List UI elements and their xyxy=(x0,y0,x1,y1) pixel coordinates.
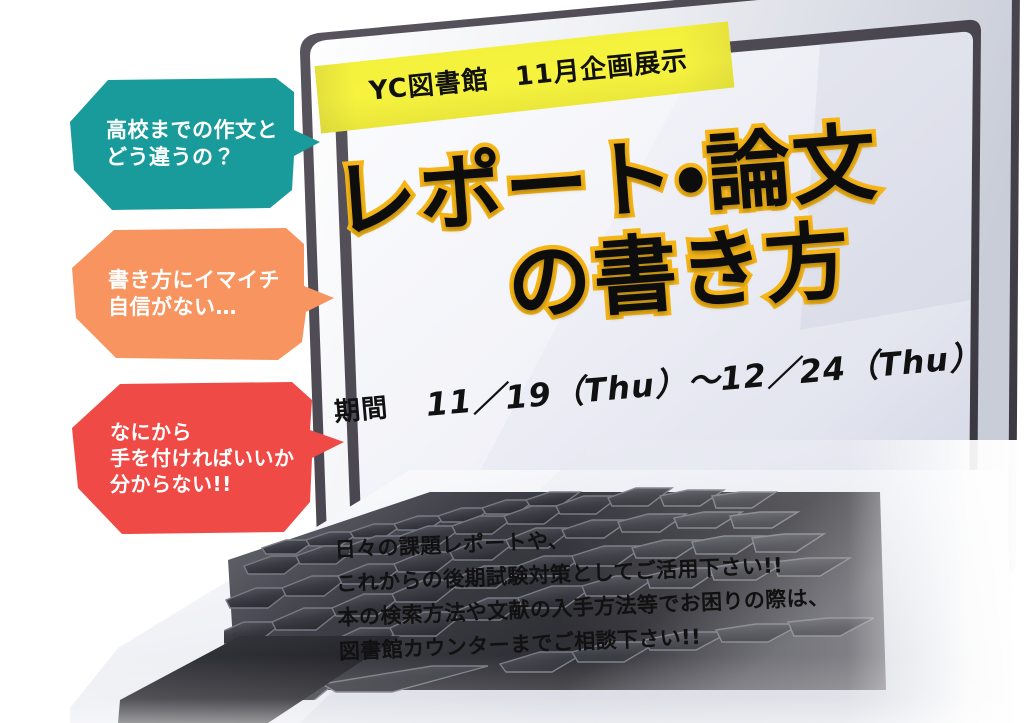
speech-bubble-question-1: 高校までの作文と どう違うの？ xyxy=(70,78,320,210)
bubble-2-text: 書き方にイマイチ 自信がない… xyxy=(108,267,334,322)
speech-bubble-question-2: 書き方にイマイチ 自信がない… xyxy=(72,228,334,360)
bubble-3-text: なにから 手を付ければいいか 分からない!! xyxy=(110,419,344,497)
bubble-1-text: 高校までの作文と どう違うの？ xyxy=(106,117,320,172)
poster-body-copy: 日々の課題レポートや、 これからの後期試験対策としてご活用下さい!! 本の検索方… xyxy=(334,508,939,669)
speech-bubble-question-3: なにから 手を付ければいいか 分からない!! xyxy=(72,382,344,534)
poster-canvas: 高校までの作文と どう違うの？ 書き方にイマイチ 自信がない… なにから 手を付… xyxy=(0,0,1024,723)
